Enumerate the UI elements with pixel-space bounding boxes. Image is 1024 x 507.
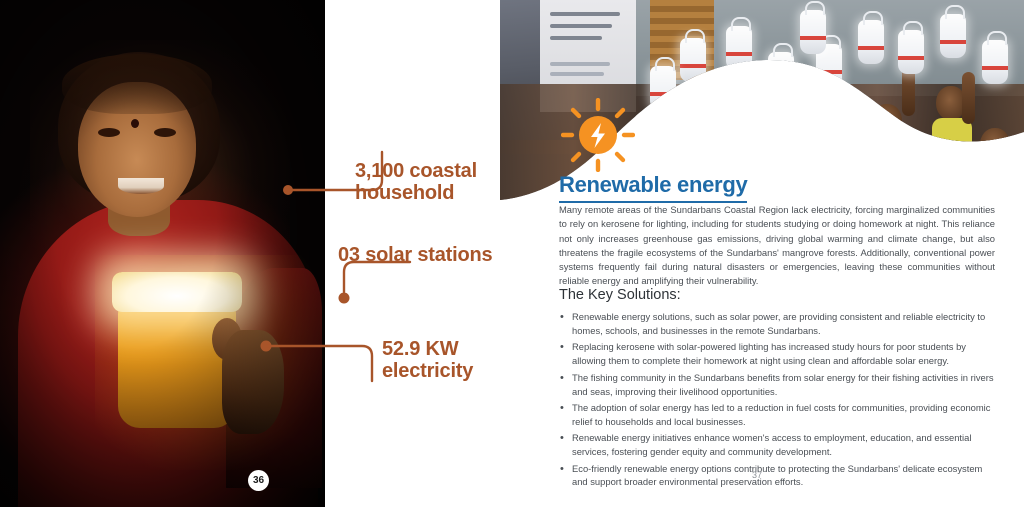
callout-line-0-1: 3,100 coastal <box>355 160 477 182</box>
photo-solar-lantern <box>680 38 706 82</box>
photo-solar-lantern <box>982 40 1008 84</box>
page-title: Renewable energy <box>559 172 747 203</box>
banner-text-line <box>550 62 610 66</box>
photo-child-head <box>696 96 726 130</box>
callout-line-0-2: household <box>355 182 454 204</box>
photo-vignette <box>0 0 325 507</box>
solution-item: Renewable energy initiatives enhance wom… <box>559 431 999 459</box>
photo-child-head <box>872 104 902 138</box>
intro-paragraph: Many remote areas of the Sundarbans Coas… <box>559 203 995 289</box>
solution-item: The adoption of solar energy has led to … <box>559 401 999 429</box>
banner-text-line <box>550 72 604 76</box>
photo-raised-arm <box>686 74 699 126</box>
page-number-left: 36 <box>248 470 269 491</box>
photo-raised-arm <box>962 72 975 124</box>
photo-solar-lantern <box>940 14 966 58</box>
callout-line-1-1: 03 solar stations <box>338 244 492 266</box>
solution-item: Renewable energy solutions, such as sola… <box>559 310 999 338</box>
photo-solar-lantern <box>726 26 752 70</box>
callout-label-0: 3,100 coastal household <box>355 160 490 205</box>
banner-text-line <box>550 12 620 16</box>
photo-child-shirt <box>970 160 1010 194</box>
solutions-heading: The Key Solutions: <box>559 287 681 303</box>
photo-child-head <box>750 128 780 162</box>
solution-item: Replacing kerosene with solar-powered li… <box>559 340 999 368</box>
photo-raised-arm <box>830 86 843 138</box>
callout-line-2-2: electricity <box>382 360 473 382</box>
photo-child-shirt <box>692 128 732 162</box>
photo-child-head <box>980 128 1010 162</box>
solutions-list: Renewable energy solutions, such as sola… <box>559 310 999 492</box>
banner-text-line <box>550 36 602 40</box>
banner-text-line <box>550 24 612 28</box>
page-number-right: 37 <box>752 470 762 480</box>
photo-child-head <box>812 150 842 184</box>
right-page: Renewable energy Many remote areas of th… <box>500 0 1024 507</box>
callout-label-1: 03 solar stations <box>338 244 508 266</box>
callout-label-2: 52.9 KW electricity <box>382 338 502 383</box>
solution-item: The fishing community in the Sundarbans … <box>559 371 999 399</box>
photo-solar-lantern <box>768 52 794 96</box>
photo-solar-lantern <box>650 66 676 110</box>
photo-raised-arm <box>746 92 759 144</box>
callout-connector-2 <box>258 335 388 395</box>
left-page-photo: BEDS <box>0 0 325 507</box>
callout-line-2-1: 52.9 KW <box>382 338 458 360</box>
left-page: BEDS 36 3,100 coastal household 03 solar… <box>0 0 500 507</box>
photo-solar-lantern <box>858 20 884 64</box>
sun-lightning-icon <box>561 98 635 172</box>
photo-solar-lantern <box>800 10 826 54</box>
photo-solar-lantern <box>898 30 924 74</box>
solution-item: Eco-friendly renewable energy options co… <box>559 462 999 490</box>
